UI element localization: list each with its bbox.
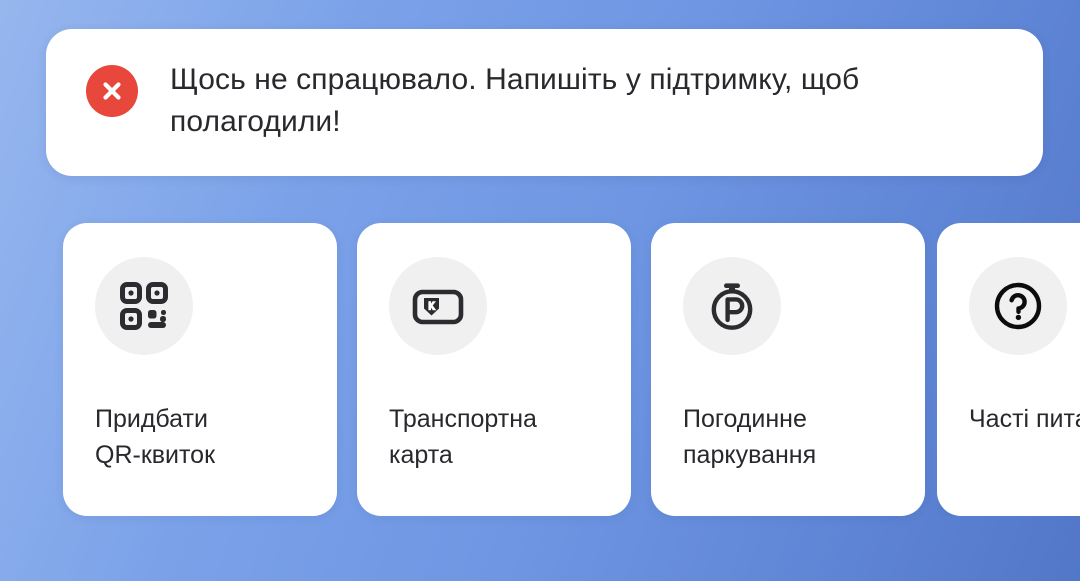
card-label: Транспортна карта xyxy=(389,401,599,473)
quick-action-card-row: Придбати QR-квиток Транспортна карта xyxy=(63,223,925,516)
card-faq[interactable]: Часті питання xyxy=(937,223,1080,516)
error-banner-message: Щось не спрацювало. Напишіть у підтримку… xyxy=(170,59,1000,143)
transport-card-icon xyxy=(389,257,487,355)
card-hourly-parking[interactable]: Погодинне паркування xyxy=(651,223,925,516)
card-transport-card[interactable]: Транспортна карта xyxy=(357,223,631,516)
parking-stopwatch-icon xyxy=(683,257,781,355)
error-banner: Щось не спрацювало. Напишіть у підтримку… xyxy=(46,29,1043,176)
card-label: Придбати QR-квиток xyxy=(95,401,305,473)
question-circle-icon xyxy=(969,257,1067,355)
app-root: Щось не спрацювало. Напишіть у підтримку… xyxy=(0,0,1080,581)
qr-code-icon xyxy=(95,257,193,355)
card-label: Часті питання xyxy=(969,401,1080,437)
card-label: Погодинне паркування xyxy=(683,401,893,473)
error-circle-x-icon xyxy=(86,65,138,117)
card-buy-qr-ticket[interactable]: Придбати QR-квиток xyxy=(63,223,337,516)
card-faq-clip: Часті питання xyxy=(937,223,1080,516)
